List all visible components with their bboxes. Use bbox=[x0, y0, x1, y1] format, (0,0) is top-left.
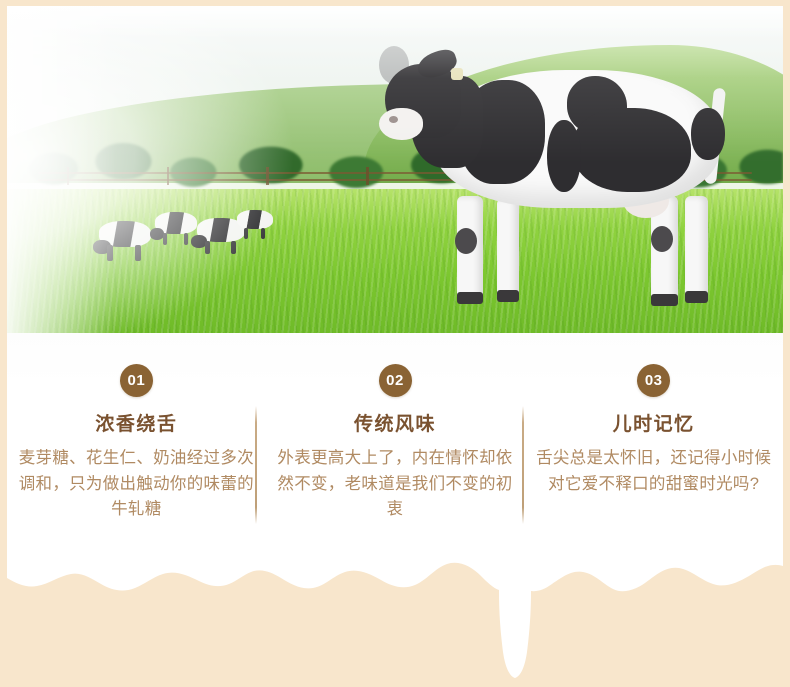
feature-columns: 01 浓香绕舌 麦芽糖、花生仁、奶油经过多次调和，只为做出触动你的味蕾的牛轧糖 … bbox=[7, 333, 783, 548]
left-fade bbox=[7, 6, 116, 333]
top-fade bbox=[7, 6, 783, 39]
feature-description: 麦芽糖、花生仁、奶油经过多次调和，只为做出触动你的味蕾的牛轧糖 bbox=[18, 446, 254, 523]
feature-title: 浓香绕舌 bbox=[95, 409, 177, 436]
feature-item-03: 03 儿时记忆 舌尖总是太怀旧，还记得小时候对它爱不释口的甜蜜时光吗? bbox=[524, 333, 783, 548]
feature-description: 舌尖总是太怀旧，还记得小时候对它爱不释口的甜蜜时光吗? bbox=[536, 446, 772, 497]
feature-description: 外表更高大上了，内在情怀却依然不变，老味道是我们不变的初衷 bbox=[277, 446, 513, 523]
milk-drip-decoration bbox=[7, 526, 783, 687]
feature-section: 01 浓香绕舌 麦芽糖、花生仁、奶油经过多次调和，只为做出触动你的味蕾的牛轧糖 … bbox=[7, 333, 783, 548]
product-detail-page: 01 浓香绕舌 麦芽糖、花生仁、奶油经过多次调和，只为做出触动你的味蕾的牛轧糖 … bbox=[0, 0, 790, 687]
feature-title: 传统风味 bbox=[354, 409, 436, 436]
content-sheet: 01 浓香绕舌 麦芽糖、花生仁、奶油经过多次调和，只为做出触动你的味蕾的牛轧糖 … bbox=[7, 6, 783, 687]
feature-number-badge: 02 bbox=[379, 364, 412, 397]
feature-item-01: 01 浓香绕舌 麦芽糖、花生仁、奶油经过多次调和，只为做出触动你的味蕾的牛轧糖 bbox=[7, 333, 266, 548]
feature-number-badge: 03 bbox=[637, 364, 670, 397]
feature-number-badge: 01 bbox=[120, 364, 153, 397]
hero-banner-image bbox=[7, 6, 783, 333]
feature-title: 儿时记忆 bbox=[613, 409, 695, 436]
feature-item-02: 02 传统风味 外表更高大上了，内在情怀却依然不变，老味道是我们不变的初衷 bbox=[266, 333, 525, 548]
top-light-wash bbox=[7, 6, 783, 333]
milk-drip-shape bbox=[7, 526, 783, 687]
